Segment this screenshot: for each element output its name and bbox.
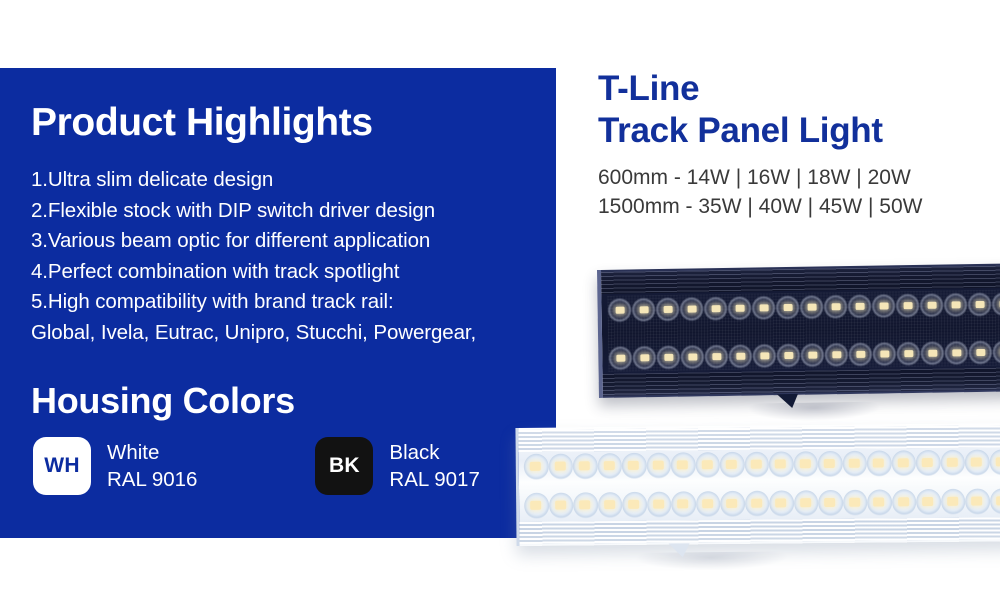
- product-title: T-Line Track Panel Light: [598, 68, 883, 152]
- led-lens: [671, 491, 696, 517]
- color-name: White: [107, 439, 197, 466]
- led-lens: [965, 449, 990, 475]
- led-lens: [991, 291, 1000, 316]
- list-item: 5.High compatibility with brand track ra…: [31, 287, 551, 318]
- led-lens: [549, 492, 574, 518]
- led-lens: [598, 492, 623, 518]
- led-lens: [775, 295, 799, 320]
- led-lens: [524, 493, 549, 519]
- led-lens: [647, 492, 672, 518]
- led-lens: [695, 452, 720, 478]
- led-array-black: [607, 289, 1000, 371]
- track-mount-clip: [669, 543, 690, 557]
- led-row-top: [607, 291, 1000, 323]
- led-lens: [920, 341, 944, 366]
- led-lens: [919, 293, 943, 318]
- led-lens: [608, 345, 632, 370]
- fixture-housing-white: [515, 423, 1000, 546]
- product-highlights-heading: Product Highlights: [31, 101, 373, 145]
- spec-line-1500mm: 1500mm - 35W | 40W | 45W | 50W: [598, 193, 922, 222]
- list-item: 1.Ultra slim delicate design: [31, 165, 551, 196]
- led-lens: [941, 489, 966, 515]
- list-item-continuation: Global, Ivela, Eutrac, Unipro, Stucchi, …: [31, 318, 551, 349]
- fixture-shadow: [637, 551, 787, 570]
- led-lens: [818, 451, 843, 477]
- led-lens: [896, 341, 920, 366]
- led-lens: [800, 342, 824, 367]
- led-lens: [524, 454, 549, 480]
- led-lens: [943, 292, 967, 317]
- led-lens: [622, 492, 647, 518]
- color-swatch-bk[interactable]: BK: [315, 437, 373, 495]
- white-track-panel-light-image: [515, 423, 1000, 546]
- housing-color-option-black[interactable]: BK Black RAL 9017: [315, 437, 479, 495]
- led-lens: [990, 488, 1000, 514]
- led-lens: [940, 450, 965, 476]
- led-array-white: [524, 449, 1000, 520]
- led-lens: [720, 491, 745, 517]
- led-lens: [818, 490, 843, 516]
- heatsink-fins-bottom: [603, 367, 1000, 396]
- color-ral-code: RAL 9016: [107, 466, 197, 493]
- led-lens: [631, 297, 655, 322]
- led-lens: [744, 452, 769, 478]
- led-lens: [916, 450, 941, 476]
- led-lens: [872, 341, 896, 366]
- track-mount-clip: [777, 394, 798, 408]
- led-lens: [847, 294, 871, 319]
- led-lens: [848, 342, 872, 367]
- color-name: Black: [389, 439, 479, 466]
- led-lens: [646, 453, 671, 479]
- led-row-bottom: [524, 488, 1000, 520]
- led-lens: [727, 296, 751, 321]
- product-highlights-panel: Product Highlights 1.Ultra slim delicate…: [0, 68, 556, 538]
- led-lens: [968, 340, 992, 365]
- led-lens: [751, 295, 775, 320]
- led-lens: [992, 339, 1000, 364]
- led-lens: [776, 343, 800, 368]
- product-title-line-2: Track Panel Light: [598, 110, 883, 152]
- led-lens: [823, 294, 847, 319]
- led-lens: [867, 489, 892, 515]
- led-lens: [794, 490, 819, 516]
- led-lens: [793, 451, 818, 477]
- housing-colors-swatches: WH White RAL 9016 BK Black RAL 9017: [33, 437, 480, 495]
- led-lens: [704, 344, 728, 369]
- led-lens: [891, 450, 916, 476]
- product-specifications: 600mm - 14W | 16W | 18W | 20W 1500mm - 3…: [598, 164, 922, 221]
- led-lens: [696, 491, 721, 517]
- color-label-black: Black RAL 9017: [389, 439, 479, 493]
- led-lens: [944, 340, 968, 365]
- led-lens: [989, 449, 1000, 475]
- led-lens: [679, 296, 703, 321]
- led-lens: [871, 293, 895, 318]
- led-lens: [769, 490, 794, 516]
- product-title-line-1: T-Line: [598, 68, 883, 110]
- housing-color-option-white[interactable]: WH White RAL 9016: [33, 437, 197, 495]
- list-item: 4.Perfect combination with track spotlig…: [31, 257, 551, 288]
- led-lens: [573, 453, 598, 479]
- led-lens: [892, 489, 917, 515]
- heatsink-fins-top: [518, 425, 1000, 452]
- list-item: 3.Various beam optic for different appli…: [31, 226, 551, 257]
- led-lens: [799, 294, 823, 319]
- led-lens: [720, 452, 745, 478]
- led-lens: [703, 296, 727, 321]
- color-swatch-wh[interactable]: WH: [33, 437, 91, 495]
- housing-colors-heading: Housing Colors: [31, 380, 295, 422]
- led-lens: [728, 344, 752, 369]
- fixture-housing-black: [597, 263, 1000, 398]
- led-lens: [842, 451, 867, 477]
- led-lens: [752, 343, 776, 368]
- led-lens: [745, 491, 770, 517]
- led-lens: [895, 293, 919, 318]
- product-highlights-list: 1.Ultra slim delicate design 2.Flexible …: [31, 165, 551, 348]
- led-lens: [548, 453, 573, 479]
- fixture-shadow: [749, 402, 879, 422]
- led-lens: [965, 488, 990, 514]
- color-ral-code: RAL 9017: [389, 466, 479, 493]
- black-track-panel-light-image: [597, 263, 1000, 398]
- led-lens: [656, 345, 680, 370]
- led-lens: [655, 297, 679, 322]
- led-lens: [622, 453, 647, 479]
- spec-line-600mm: 600mm - 14W | 16W | 18W | 20W: [598, 164, 922, 193]
- led-lens: [967, 292, 991, 317]
- led-lens: [573, 492, 598, 518]
- list-item: 2.Flexible stock with DIP switch driver …: [31, 196, 551, 227]
- color-label-white: White RAL 9016: [107, 439, 197, 493]
- led-lens: [680, 344, 704, 369]
- led-lens: [607, 297, 631, 322]
- led-lens: [824, 342, 848, 367]
- led-row-bottom: [608, 339, 1000, 371]
- led-lens: [769, 451, 794, 477]
- led-lens: [867, 450, 892, 476]
- heatsink-fins-bottom: [519, 517, 1000, 544]
- led-row-top: [524, 449, 1000, 481]
- led-lens: [632, 345, 656, 370]
- led-lens: [916, 489, 941, 515]
- led-lens: [671, 452, 696, 478]
- led-lens: [597, 453, 622, 479]
- led-lens: [843, 490, 868, 516]
